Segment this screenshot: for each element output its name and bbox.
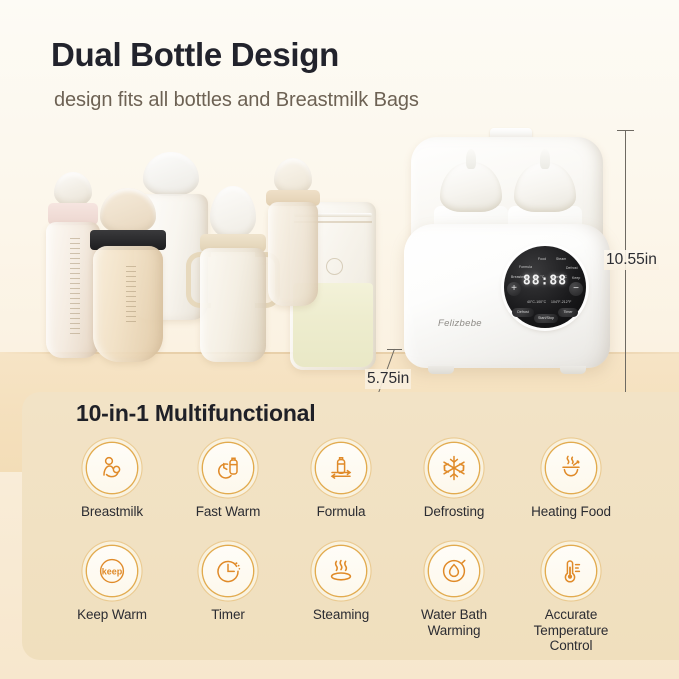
feature-label: Timer — [169, 607, 287, 623]
depth-cap-top — [387, 349, 402, 350]
feature-defrosting[interactable]: Defrosting — [395, 443, 513, 520]
foot-right — [560, 366, 586, 374]
bowl-steam-icon — [546, 443, 596, 493]
page-title: Dual Bottle Design — [51, 36, 339, 74]
lcd-display: 88:88 — [523, 274, 567, 289]
feature-keep-warm[interactable]: keep Keep Warm — [53, 546, 171, 623]
measure-ticks — [70, 238, 80, 338]
bottle-group — [26, 150, 376, 370]
feature-accurate-temperature-control[interactable]: Accurate Temperature Control — [512, 546, 630, 654]
feature-heating-food[interactable]: Heating Food — [512, 443, 630, 520]
bottle-body — [200, 248, 266, 362]
feature-steaming[interactable]: Steaming — [282, 546, 400, 623]
features-title: 10-in-1 Multifunctional — [76, 400, 315, 427]
feature-label: Steaming — [282, 607, 400, 623]
feature-timer[interactable]: Timer — [169, 546, 287, 623]
feature-label: Heating Food — [512, 504, 630, 520]
minus-button[interactable]: − — [569, 282, 583, 296]
product-infographic: Dual Bottle Design design fits all bottl… — [0, 0, 679, 679]
feature-label: Accurate Temperature Control — [512, 607, 630, 654]
clock-icon — [203, 546, 253, 596]
feature-label: Breastmilk — [53, 504, 171, 520]
feature-label: Defrosting — [395, 504, 513, 520]
bottle-clock-icon — [203, 443, 253, 493]
panel-label-keep: Keep — [572, 276, 580, 280]
foot-left — [428, 366, 454, 374]
feature-water-bath-warming[interactable]: Water Bath Warming — [395, 546, 513, 638]
thermometer-icon — [546, 546, 596, 596]
bottle-body — [268, 202, 318, 306]
panel-label-formula: Formula — [519, 265, 532, 269]
panel-label-steam: Steam — [556, 257, 566, 261]
measure-ticks — [126, 266, 136, 326]
bottle-arrows-icon — [316, 443, 366, 493]
bag-logo-icon — [326, 258, 343, 275]
panel-label-food: Food — [538, 257, 546, 261]
nipple — [210, 186, 256, 238]
nipple — [274, 158, 312, 194]
panel-label-defrost: Defrost — [566, 266, 578, 270]
bottle-warmer-device: Felizbebe Food Steam Defrost Formula Bre… — [404, 128, 610, 368]
panel-label-celsius-range: 40°C-100°C — [527, 300, 546, 304]
snowflake-icon — [429, 443, 479, 493]
nipple — [100, 188, 156, 234]
feature-label: Keep Warm — [53, 607, 171, 623]
feature-label: Fast Warm — [169, 504, 287, 520]
timer-button[interactable]: Timer — [558, 308, 578, 317]
start-stop-button[interactable]: Start/Stop — [534, 314, 558, 323]
brand-label: Felizbebe — [438, 318, 482, 329]
svg-text:keep: keep — [102, 567, 123, 577]
steam-dish-icon — [316, 546, 366, 596]
control-panel[interactable]: Food Steam Defrost Formula Breastmilk Se… — [504, 246, 586, 328]
feature-formula[interactable]: Formula — [282, 443, 400, 520]
panel-label-fahrenheit-range: 104°F-212°F — [551, 300, 571, 304]
depth-dimension-label: 5.75in — [365, 369, 411, 389]
bottle-small-behind — [264, 158, 322, 308]
defrost-button[interactable]: Defrost — [512, 308, 534, 317]
feature-label: Water Bath Warming — [395, 607, 513, 638]
keep-text-icon: keep — [87, 546, 137, 596]
height-cap-top — [617, 130, 634, 131]
device-body: Felizbebe Food Steam Defrost Formula Bre… — [404, 224, 610, 368]
nipple — [54, 172, 92, 206]
flame-drop-icon — [429, 546, 479, 596]
page-subtitle: design fits all bottles and Breastmilk B… — [54, 89, 419, 112]
breastfeeding-icon — [87, 443, 137, 493]
feature-label: Formula — [282, 504, 400, 520]
bottle-beige-black-collar — [88, 188, 168, 363]
feature-fast-warm[interactable]: Fast Warm — [169, 443, 287, 520]
feature-breastmilk[interactable]: Breastmilk — [53, 443, 171, 520]
height-dimension-line — [625, 130, 626, 412]
height-dimension-label: 10.55in — [604, 250, 659, 270]
plus-button[interactable]: + — [507, 282, 521, 296]
